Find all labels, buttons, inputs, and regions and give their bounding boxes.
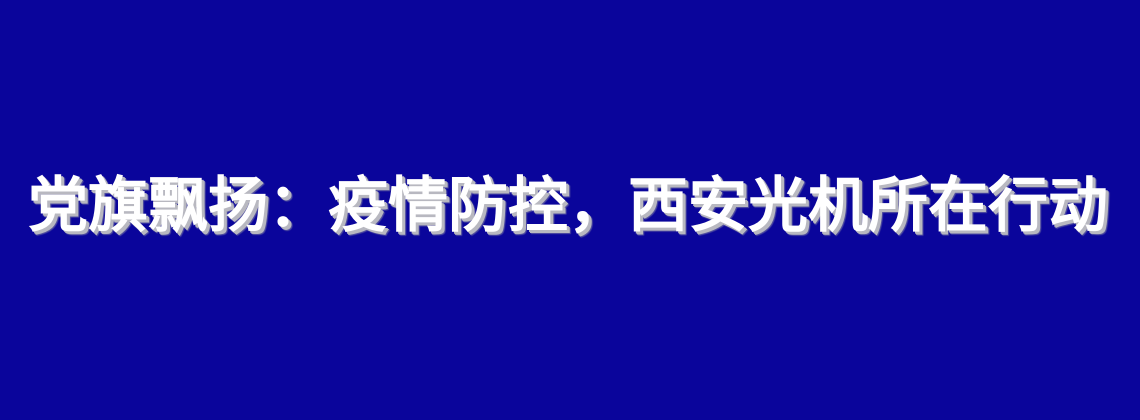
headline-container: 党旗飘扬：疫情防控，西安光机所在行动 [0, 0, 1140, 420]
banner-headline: 党旗飘扬：疫情防控，西安光机所在行动 [28, 176, 1108, 236]
banner-background: 党旗飘扬：疫情防控，西安光机所在行动 [0, 0, 1140, 420]
